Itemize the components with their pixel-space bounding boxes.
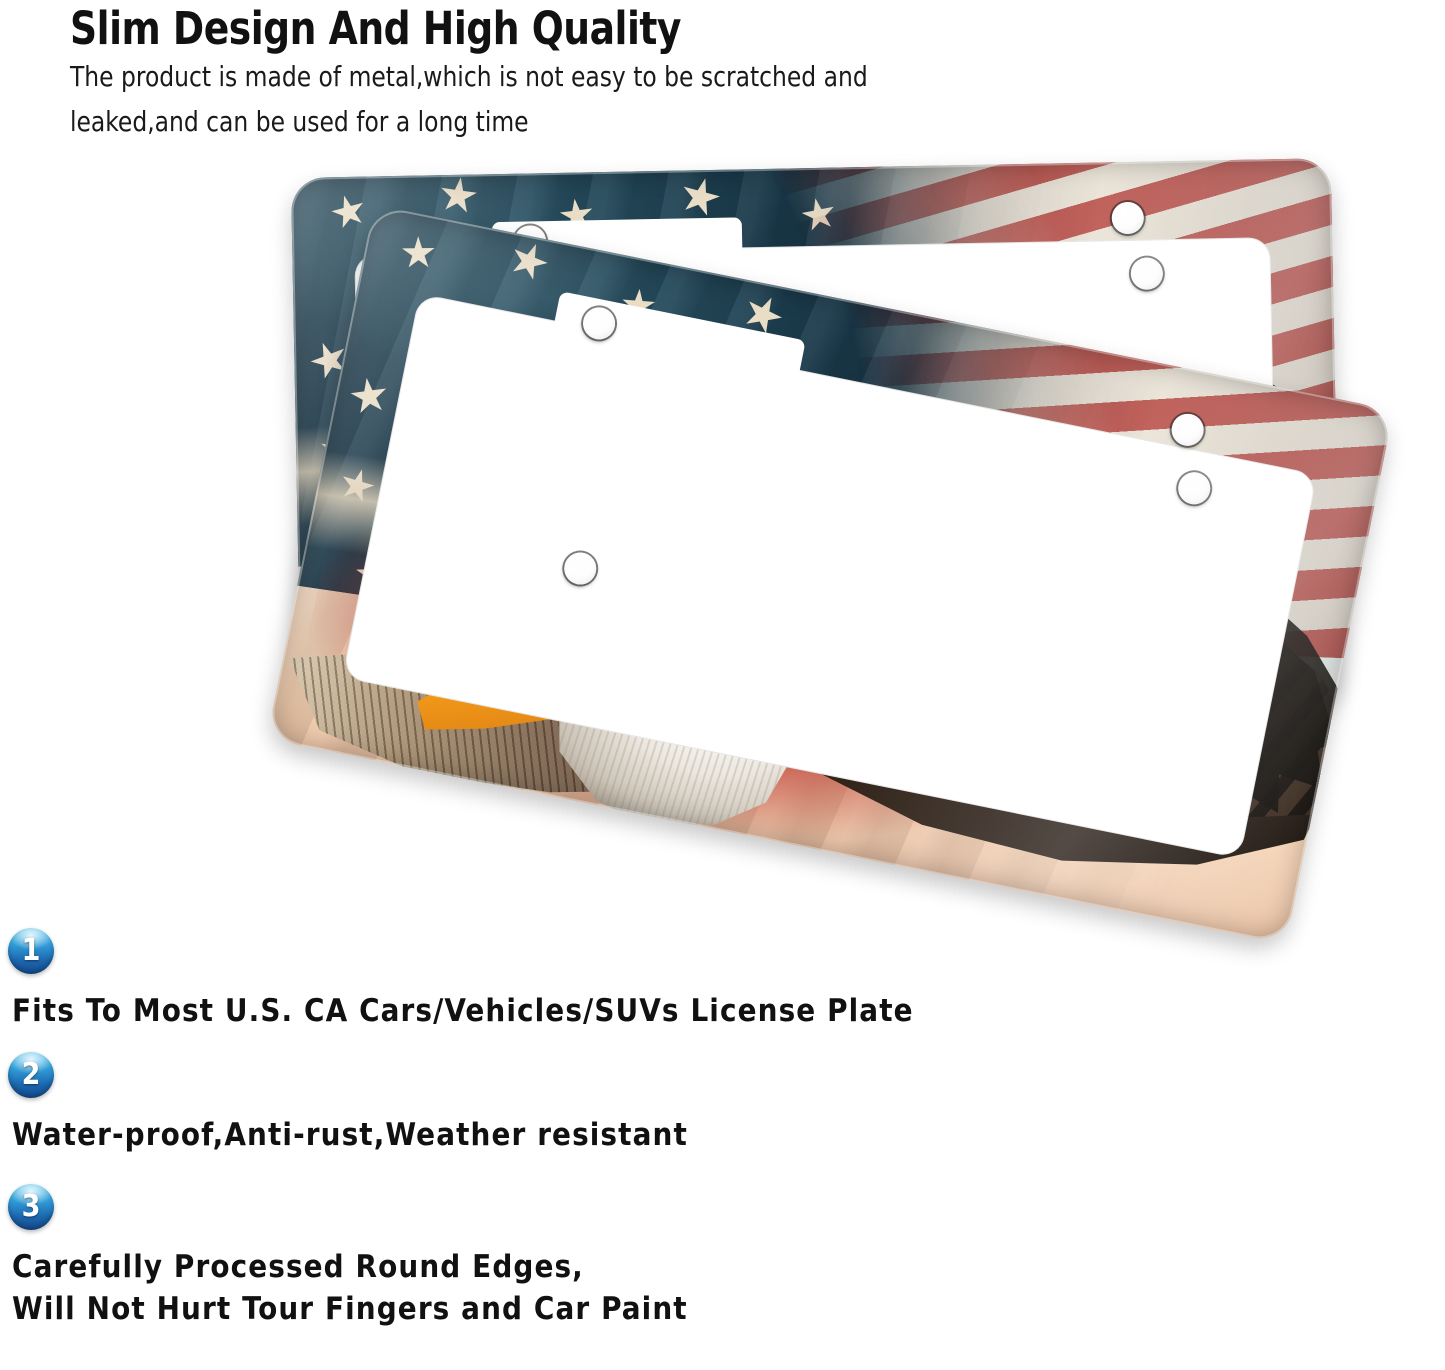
- feature-number-badge-3: 3: [8, 1184, 54, 1230]
- feature-text-3-line-2: Will Not Hurt Tour Fingers and Car Paint: [12, 1288, 1445, 1330]
- page-title: Slim Design And High Quality: [70, 4, 1000, 54]
- feature-item-2: 2 Water-proof,Anti-rust,Weather resistan…: [0, 1052, 1445, 1156]
- feature-item-3: 3 Carefully Processed Round Edges, Will …: [0, 1184, 1445, 1330]
- product-photo: [0, 150, 1445, 990]
- feature-text-1: Fits To Most U.S. CA Cars/Vehicles/SUVs …: [12, 990, 1445, 1032]
- description-line-1: The product is made of metal,which is no…: [70, 54, 1000, 99]
- feature-list: 1 Fits To Most U.S. CA Cars/Vehicles/SUV…: [0, 928, 1445, 1336]
- feature-number-badge-2: 2: [8, 1052, 54, 1098]
- feature-number-badge-1: 1: [8, 928, 54, 974]
- header-block: Slim Design And High Quality The product…: [70, 4, 1070, 144]
- description-line-2: leaked,and can be used for a long time: [70, 99, 1000, 144]
- feature-number-3: 3: [22, 1192, 41, 1222]
- feature-item-1: 1 Fits To Most U.S. CA Cars/Vehicles/SUV…: [0, 928, 1445, 1032]
- feature-number-1: 1: [22, 936, 41, 966]
- feature-text-3-line-1: Carefully Processed Round Edges,: [12, 1246, 1445, 1288]
- feature-text-2: Water-proof,Anti-rust,Weather resistant: [12, 1114, 1445, 1156]
- product-feature-page: Slim Design And High Quality The product…: [0, 0, 1445, 1370]
- feature-number-2: 2: [22, 1060, 41, 1090]
